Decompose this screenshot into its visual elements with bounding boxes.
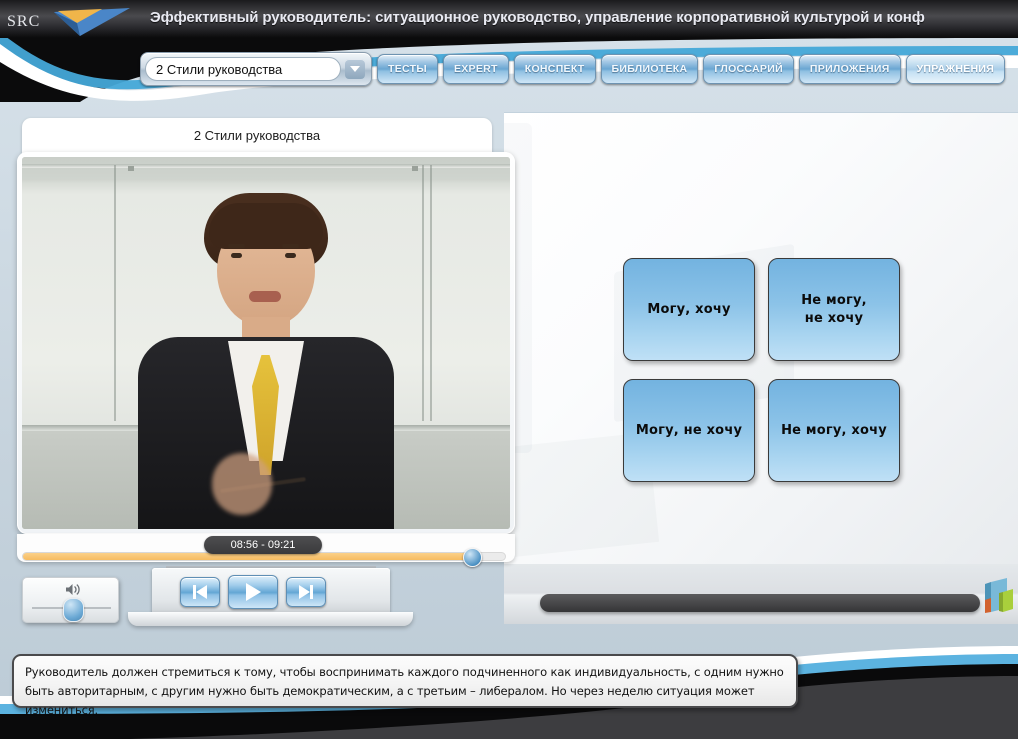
caption-box: Руководитель должен стремиться к тому, ч… bbox=[12, 654, 798, 708]
elearning-player: Эффективный руководитель: ситуационное р… bbox=[0, 0, 1018, 739]
module-select[interactable]: 2 Стили руководства bbox=[140, 52, 372, 86]
slide-shelf-decoration bbox=[504, 564, 1018, 624]
video-surface[interactable] bbox=[22, 157, 510, 529]
video-slide-title-bar: 2 Стили руководства bbox=[22, 118, 492, 154]
slide-panel: Могу, хочу Не могу, не хочу Могу, не хоч… bbox=[504, 112, 1018, 565]
slide-card[interactable]: Могу, не хочу bbox=[623, 379, 755, 482]
shelf-bar bbox=[540, 594, 980, 612]
nav-button-exercises[interactable]: УПРАЖНЕНИЯ bbox=[906, 54, 1006, 84]
video-time-range: 08:56 - 09:21 bbox=[204, 536, 322, 554]
chevron-down-icon[interactable] bbox=[345, 59, 365, 79]
video-slide-title: 2 Стили руководства bbox=[22, 118, 492, 154]
main-navigation: 2 Стили руководства ТЕСТЫ EXPERT КОНСПЕК… bbox=[140, 48, 1005, 90]
video-control-stand bbox=[128, 566, 413, 636]
app-header: Эффективный руководитель: ситуационное р… bbox=[0, 0, 1018, 38]
logo-text: SRC bbox=[7, 13, 40, 31]
nav-button-glossary[interactable]: ГЛОССАРИЙ bbox=[703, 54, 794, 84]
nav-button-konspekt[interactable]: КОНСПЕКТ bbox=[514, 54, 596, 84]
slide-card[interactable]: Не могу, хочу bbox=[768, 379, 900, 482]
video-player-frame bbox=[17, 152, 515, 534]
slide-cards-grid: Могу, хочу Не могу, не хочу Могу, не хоч… bbox=[623, 258, 905, 488]
bar-chart-3d-icon bbox=[983, 572, 1017, 617]
nav-button-library[interactable]: БИБЛИОТЕКА bbox=[601, 54, 699, 84]
speaker-icon bbox=[65, 583, 83, 596]
src-logo: SRC bbox=[4, 4, 134, 38]
slide-card[interactable]: Могу, хочу bbox=[623, 258, 755, 361]
logo-mark-icon bbox=[50, 6, 134, 38]
nav-button-tests[interactable]: ТЕСТЫ bbox=[377, 54, 438, 84]
slide-card[interactable]: Не могу, не хочу bbox=[768, 258, 900, 361]
volume-control[interactable] bbox=[22, 577, 119, 623]
skip-forward-icon[interactable] bbox=[286, 577, 326, 607]
video-speaker bbox=[116, 191, 416, 529]
play-icon[interactable] bbox=[228, 575, 278, 609]
nav-button-appendices[interactable]: ПРИЛОЖЕНИЯ bbox=[799, 54, 901, 84]
video-progress-handle[interactable] bbox=[463, 548, 482, 567]
caption-text: Руководитель должен стремиться к тому, ч… bbox=[25, 663, 785, 720]
module-select-value[interactable]: 2 Стили руководства bbox=[145, 57, 341, 81]
skip-back-icon[interactable] bbox=[180, 577, 220, 607]
course-title: Эффективный руководитель: ситуационное р… bbox=[150, 6, 1010, 30]
volume-slider-handle[interactable] bbox=[63, 598, 84, 622]
video-progress-fill bbox=[23, 553, 476, 560]
nav-button-expert[interactable]: EXPERT bbox=[443, 54, 509, 84]
